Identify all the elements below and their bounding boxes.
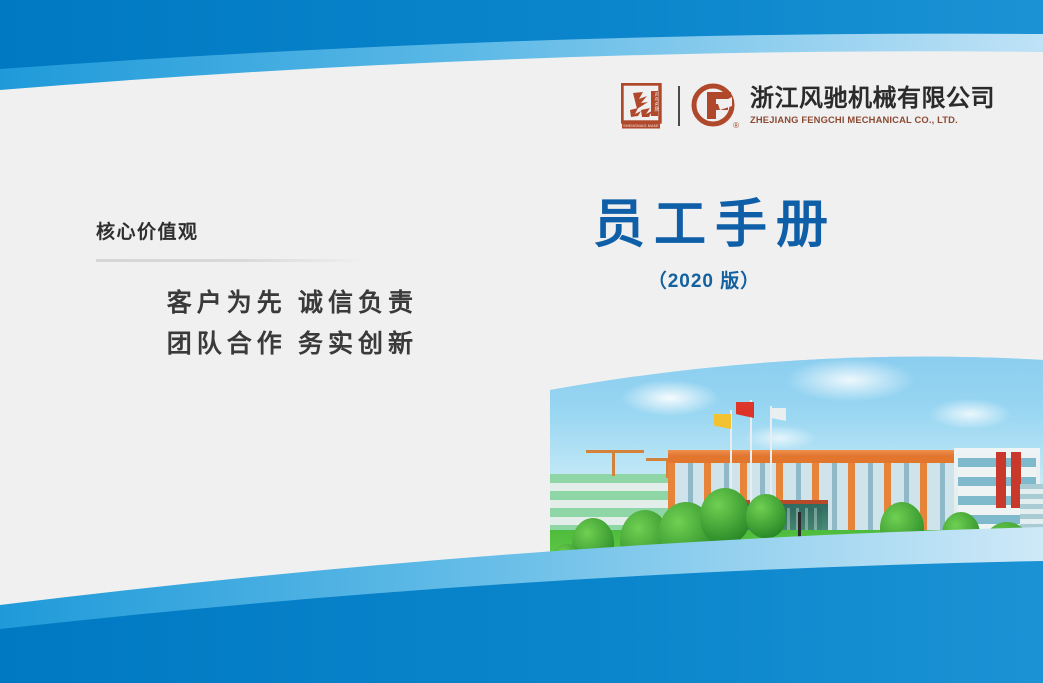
tree-trunk — [683, 562, 688, 596]
cover-page: 声 鸟 名 牌 SHENGNIAO MAKE ® 浙江风驰机械有限公司 ZHEJ… — [0, 0, 1043, 683]
tree — [746, 494, 786, 538]
shrub — [758, 602, 776, 616]
top-band-dark — [0, 0, 1043, 69]
company-name-en: ZHEJIANG FENGCHI MECHANICAL CO., LTD. — [750, 115, 1000, 125]
bench — [566, 598, 592, 604]
shrub — [670, 592, 696, 610]
bench — [610, 614, 638, 620]
tree — [942, 512, 980, 556]
building-far-right — [1020, 484, 1043, 532]
red-banner — [996, 452, 1006, 508]
registered-trademark-icon: ® — [733, 122, 739, 130]
svg-text:牌: 牌 — [655, 106, 660, 113]
plaza-emblem — [786, 581, 816, 596]
seal-logo-svg: 声 鸟 名 牌 SHENGNIAO MAKE — [621, 83, 667, 129]
core-values-divider — [96, 259, 364, 262]
lamp-head-icon — [857, 538, 866, 545]
title-block: 员工手册 （2020 版） — [584, 196, 824, 293]
tree — [880, 502, 924, 554]
tree — [552, 544, 582, 574]
svg-text:SHENGNIAO MAKE: SHENGNIAO MAKE — [623, 124, 659, 128]
crane-icon — [612, 450, 615, 476]
core-values-line-2: 团队合作 务实创新 — [96, 324, 418, 366]
crane-icon — [586, 450, 644, 453]
campus-photo — [550, 352, 1043, 627]
tree-trunk — [591, 562, 595, 584]
lamp-post — [710, 548, 713, 610]
shrub — [728, 544, 748, 560]
tree — [700, 488, 750, 544]
edition-label: （2020 版） — [584, 266, 824, 293]
campus-photo-inner — [550, 352, 1043, 627]
core-values-heading: 核心价值观 — [96, 222, 426, 245]
fengchi-f-mark: ® — [691, 83, 737, 129]
page-title: 员工手册 — [584, 196, 824, 254]
company-logo-lockup: 声 鸟 名 牌 SHENGNIAO MAKE ® 浙江风驰机械有限公司 ZHEJ… — [621, 78, 995, 134]
tree — [980, 522, 1034, 586]
core-values-list: 客户为先 诚信负责 团队合作 务实创新 — [96, 283, 426, 366]
tree-trunk — [900, 548, 904, 570]
flagpole — [770, 406, 772, 506]
f-mark-svg — [691, 83, 737, 129]
company-name-block: 浙江风驰机械有限公司 ZHEJIANG FENGCHI MECHANICAL C… — [750, 86, 995, 125]
bench — [942, 590, 972, 596]
core-values-block: 核心价值观 客户为先 诚信负责 团队合作 务实创新 — [96, 222, 426, 366]
tree-trunk — [642, 564, 647, 594]
lamp-head-icon — [707, 544, 716, 551]
logo-divider — [678, 86, 680, 126]
top-band-light — [0, 0, 1043, 90]
company-name-cn: 浙江风驰机械有限公司 — [750, 86, 995, 112]
lamp-post — [798, 512, 801, 554]
parked-car — [886, 536, 908, 545]
lamp-post — [860, 542, 863, 612]
shengniao-seal-logo: 声 鸟 名 牌 SHENGNIAO MAKE — [621, 83, 667, 129]
core-values-line-1: 客户为先 诚信负责 — [96, 283, 418, 325]
bench — [990, 610, 1022, 616]
walkway-joint — [754, 620, 850, 622]
